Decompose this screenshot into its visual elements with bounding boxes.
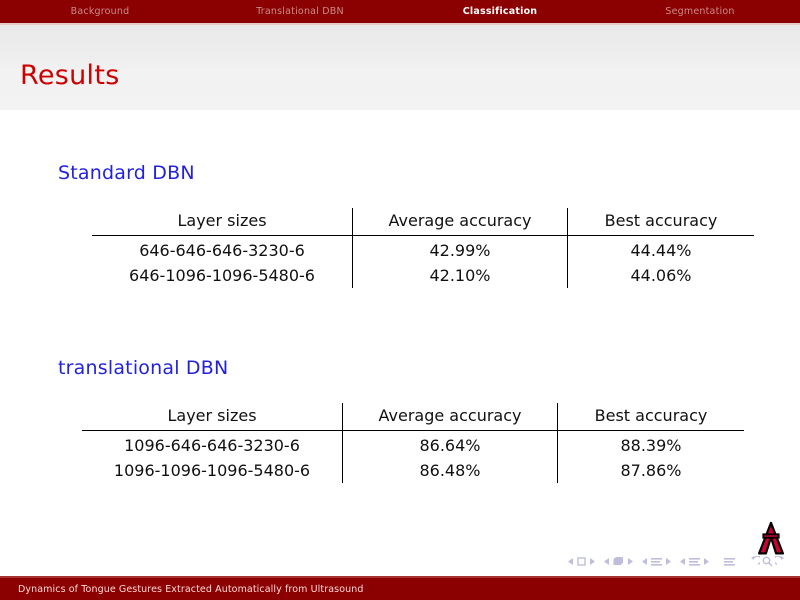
slide-square-icon[interactable] [576, 556, 587, 567]
table-row: 646-1096-1096-5480-6 42.10% 44.06% [92, 263, 754, 288]
presentation-navigation-group[interactable] [723, 556, 736, 567]
table-row: 1096-1096-1096-5480-6 86.48% 87.86% [82, 458, 744, 483]
cell-average-accuracy: 42.10% [353, 263, 568, 288]
nav-slot-background[interactable]: Background [0, 6, 200, 17]
nav-item-classification[interactable]: Classification [463, 6, 538, 17]
forward-icon[interactable] [775, 556, 786, 567]
section-navigation-group[interactable] [679, 556, 710, 567]
nav-item-translational-dbn[interactable]: Translational DBN [256, 6, 344, 17]
column-header-layer-sizes: Layer sizes [92, 208, 353, 236]
cell-best-accuracy: 87.86% [558, 458, 745, 483]
column-header-layer-sizes: Layer sizes [82, 403, 343, 431]
next-subsection-icon[interactable] [665, 557, 672, 566]
cell-layer-sizes: 646-1096-1096-5480-6 [92, 263, 353, 288]
previous-subsection-icon[interactable] [641, 557, 648, 566]
title-band [0, 25, 800, 110]
cell-average-accuracy: 86.64% [343, 431, 558, 459]
slide-navigation-group[interactable] [567, 556, 596, 567]
subsection-lines-icon[interactable] [650, 556, 663, 567]
nav-item-segmentation[interactable]: Segmentation [665, 6, 734, 17]
cell-best-accuracy: 44.06% [568, 263, 755, 288]
section-heading-standard-dbn: Standard DBN [58, 162, 195, 184]
column-header-average-accuracy: Average accuracy [343, 403, 558, 431]
section-lines-icon[interactable] [688, 556, 701, 567]
next-frame-icon[interactable] [627, 557, 634, 566]
beamer-navigation-symbols[interactable] [567, 556, 786, 567]
previous-slide-icon[interactable] [567, 557, 574, 566]
cell-layer-sizes: 1096-646-646-3230-6 [82, 431, 343, 459]
nav-slot-translational-dbn[interactable]: Translational DBN [200, 6, 400, 17]
previous-frame-icon[interactable] [603, 557, 610, 566]
logo-a-crossbar [763, 534, 778, 537]
nav-slot-classification[interactable]: Classification [400, 6, 600, 17]
search-icon[interactable] [762, 556, 773, 567]
nav-slot-segmentation[interactable]: Segmentation [600, 6, 800, 17]
previous-section-icon[interactable] [679, 557, 686, 566]
results-table-standard-dbn: Layer sizes Average accuracy Best accura… [92, 208, 754, 288]
section-heading-translational-dbn: translational DBN [58, 357, 228, 379]
subsection-navigation-group[interactable] [641, 556, 672, 567]
footer-bar: Dynamics of Tongue Gestures Extracted Au… [0, 578, 800, 600]
table-header-row: Layer sizes Average accuracy Best accura… [82, 403, 744, 431]
column-header-average-accuracy: Average accuracy [353, 208, 568, 236]
frame-cube-icon[interactable] [612, 556, 625, 567]
column-header-best-accuracy: Best accuracy [568, 208, 755, 236]
document-navigation-group[interactable] [749, 556, 786, 567]
next-slide-icon[interactable] [589, 557, 596, 566]
table-header-row: Layer sizes Average accuracy Best accura… [92, 208, 754, 236]
results-table-translational-dbn: Layer sizes Average accuracy Best accura… [82, 403, 744, 483]
navigation-bar: Background Translational DBN Classificat… [0, 0, 800, 23]
cell-layer-sizes: 1096-1096-1096-5480-6 [82, 458, 343, 483]
footer-title: Dynamics of Tongue Gestures Extracted Au… [0, 584, 363, 595]
cell-average-accuracy: 86.48% [343, 458, 558, 483]
cell-best-accuracy: 88.39% [558, 431, 745, 459]
slide-content: Standard DBN Layer sizes Average accurac… [0, 110, 800, 570]
page-title: Results [20, 60, 120, 91]
cell-best-accuracy: 44.44% [568, 236, 755, 264]
next-section-icon[interactable] [703, 557, 710, 566]
cell-average-accuracy: 42.99% [353, 236, 568, 264]
back-icon[interactable] [749, 556, 760, 567]
table-of-contents-icon[interactable] [723, 556, 736, 567]
column-header-best-accuracy: Best accuracy [558, 403, 745, 431]
table-row: 1096-646-646-3230-6 86.64% 88.39% [82, 431, 744, 459]
frame-navigation-group[interactable] [603, 556, 634, 567]
cell-layer-sizes: 646-646-646-3230-6 [92, 236, 353, 264]
university-logo [754, 521, 788, 557]
nav-item-background[interactable]: Background [71, 6, 130, 17]
table-row: 646-646-646-3230-6 42.99% 44.44% [92, 236, 754, 264]
